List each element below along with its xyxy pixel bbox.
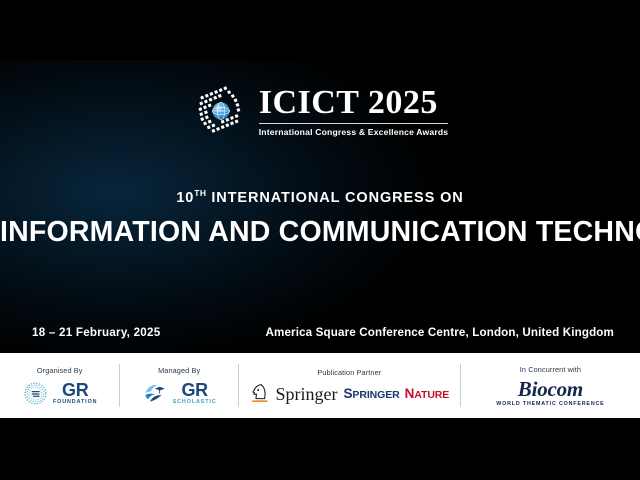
headline-block: 10TH INTERNATIONAL CONGRESS ON INFORMATI… [0, 188, 640, 249]
springer-nature-logo: SPRINGER NATURE [344, 386, 450, 401]
gr-scholastic-emblem [142, 380, 169, 407]
springer-knight-icon [250, 382, 272, 406]
in-concurrent-with-caption: In Concurrent with [520, 365, 581, 374]
sponsor-block-publication: Publication Partner Springer SPRINGER NA… [239, 353, 460, 418]
icict-logo-subtitle: International Congress & Excellence Awar… [259, 127, 449, 137]
publication-partner-caption: Publication Partner [317, 368, 381, 377]
sponsor-footer: Organised By [0, 353, 640, 418]
eyebrow-ordinal: TH [194, 188, 206, 198]
gr-scholastic-wordmark: GR SCHOLASTIC [173, 381, 217, 405]
congress-eyebrow: 10TH INTERNATIONAL CONGRESS ON [0, 188, 640, 206]
icict-logo-text: ICICT 2025 International Congress & Exce… [259, 86, 449, 137]
springer-logo: Springer [250, 382, 338, 406]
managed-by-caption: Managed By [158, 366, 200, 375]
springer-nature-springer-word: SPRINGER [344, 386, 400, 401]
gr-scholastic-initials: GR [181, 381, 207, 399]
eyebrow-rest: INTERNATIONAL CONGRESS ON [206, 190, 463, 206]
event-venue: America Square Conference Centre, London… [265, 326, 614, 339]
logo-divider-rule [259, 123, 449, 124]
biocom-tagline: WORLD THEMATIC CONFERENCE [496, 402, 604, 407]
event-date: 18 – 21 February, 2025 [32, 326, 160, 339]
sponsor-block-managed: Managed By GR SCHOLASTIC [120, 353, 237, 418]
conference-banner: ICICT 2025 International Congress & Exce… [0, 60, 640, 353]
biocom-logo: Biocom WORLD THEMATIC CONFERENCE [496, 379, 604, 407]
event-meta-row: 18 – 21 February, 2025 America Square Co… [0, 326, 640, 346]
organised-by-caption: Organised By [37, 366, 83, 375]
gr-foundation-wordmark: GR FOUNDATION [53, 381, 98, 405]
sn-nature-rest: ATURE [414, 389, 449, 401]
organised-logo-row: GR FOUNDATION [22, 380, 98, 407]
sponsor-block-organised: Organised By [0, 353, 119, 418]
gr-foundation-name: FOUNDATION [53, 400, 98, 405]
sn-nature-cap: N [405, 386, 415, 401]
gr-scholastic-logo: GR SCHOLASTIC [142, 380, 217, 407]
letterbox-bottom-bar [0, 418, 640, 480]
page-title: INFORMATION AND COMMUNICATION TECHNOLOGY [0, 216, 640, 249]
springer-nature-nature-word: NATURE [405, 386, 450, 401]
icict-dotted-globe-logo [192, 82, 250, 140]
gr-foundation-logo: GR FOUNDATION [22, 380, 98, 407]
gr-scholastic-name: SCHOLASTIC [173, 400, 217, 405]
screenshot-root: ICICT 2025 International Congress & Exce… [0, 0, 640, 480]
sponsor-block-concurrent: In Concurrent with Biocom WORLD THEMATIC… [461, 353, 640, 418]
gr-foundation-initials: GR [62, 381, 88, 399]
eyebrow-number: 10 [176, 190, 194, 206]
concurrent-logo-row: Biocom WORLD THEMATIC CONFERENCE [496, 379, 604, 407]
springer-wordmark: Springer [276, 385, 338, 403]
sn-springer-rest: PRINGER [352, 389, 399, 401]
managed-logo-row: GR SCHOLASTIC [142, 380, 217, 407]
letterbox-top-bar [0, 0, 640, 60]
publication-logo-row: Springer SPRINGER NATURE [250, 382, 450, 406]
icict-logo-title: ICICT 2025 [259, 86, 449, 120]
biocom-wordmark: Biocom [518, 379, 583, 400]
icict-logo-lockup: ICICT 2025 International Congress & Exce… [0, 82, 640, 140]
gr-foundation-emblem [22, 380, 49, 407]
